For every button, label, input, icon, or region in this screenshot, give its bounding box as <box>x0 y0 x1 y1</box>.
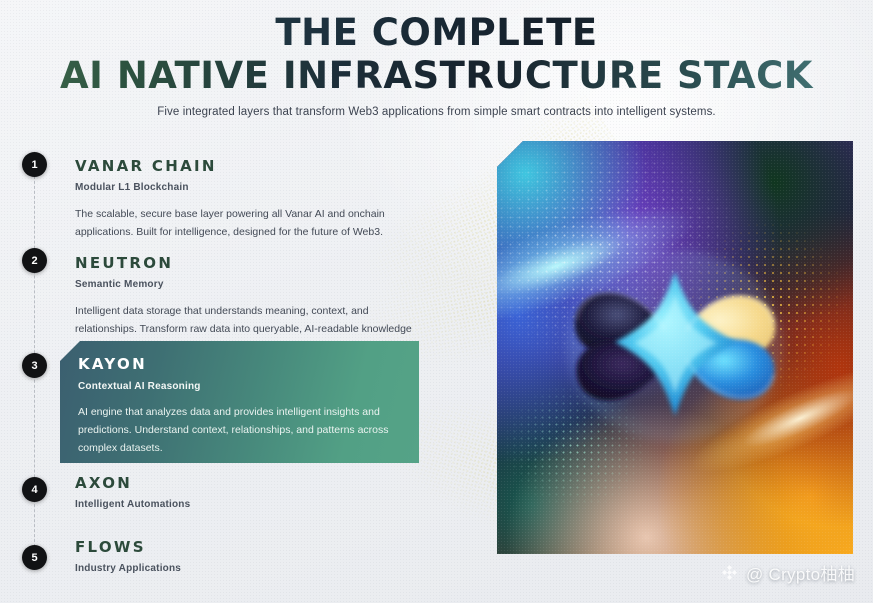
layer-step-rail: 1 2 3 4 5 <box>22 152 48 570</box>
layer-name: FLOWS <box>75 538 181 556</box>
layer-name: KAYON <box>78 355 403 373</box>
layer-badge-3: 3 <box>22 353 47 378</box>
layer-badge-1: 1 <box>22 152 47 177</box>
layer-item-flows[interactable]: FLOWS Industry Applications <box>75 538 181 574</box>
layer-item-axon[interactable]: AXON Intelligent Automations <box>75 474 190 510</box>
kayon-card-content: KAYON Contextual AI Reasoning AI engine … <box>60 341 419 486</box>
watermark-handle: @ Crypto柚柚 <box>746 560 855 585</box>
artwork-grain-overlay <box>497 141 853 554</box>
layer-subtitle: Industry Applications <box>75 563 181 574</box>
layer-badge-2: 2 <box>22 248 47 273</box>
layer-item-vanar-chain[interactable]: VANAR CHAIN Modular L1 Blockchain The sc… <box>75 157 420 242</box>
page-header: THE COMPLETE AI NATIVE INFRASTRUCTURE ST… <box>0 14 873 118</box>
layer-name: VANAR CHAIN <box>75 157 420 175</box>
example-chip-security-auditing[interactable]: Security Auditing <box>228 469 309 486</box>
layer-name: NEUTRON <box>75 254 420 272</box>
page-title-line-1: THE COMPLETE <box>0 14 873 51</box>
layer-name: AXON <box>75 474 190 492</box>
layer-item-kayon-card[interactable]: KAYON Contextual AI Reasoning AI engine … <box>60 341 419 463</box>
hero-artwork <box>497 141 853 554</box>
layer-description: AI engine that analyzes data and provide… <box>78 403 403 457</box>
layer-badge-4: 4 <box>22 477 47 502</box>
layer-description: The scalable, secure base layer powering… <box>75 205 420 242</box>
watermark: @ Crypto柚柚 <box>720 560 855 585</box>
infographic-page: THE COMPLETE AI NATIVE INFRASTRUCTURE ST… <box>0 0 873 603</box>
layer-badge-5: 5 <box>22 545 47 570</box>
layer-subtitle: Contextual AI Reasoning <box>78 381 403 392</box>
layer-subtitle: Semantic Memory <box>75 279 420 290</box>
layer-subtitle: Modular L1 Blockchain <box>75 182 420 193</box>
layer-subtitle: Intelligent Automations <box>75 499 190 510</box>
binance-diamond-icon <box>720 563 739 582</box>
example-chip-regulatory-compliance[interactable]: Regulatory Compliance <box>316 469 420 486</box>
page-subtitle: Five integrated layers that transform We… <box>0 106 873 118</box>
page-title-line-2: AI NATIVE INFRASTRUCTURE STACK <box>0 57 873 94</box>
